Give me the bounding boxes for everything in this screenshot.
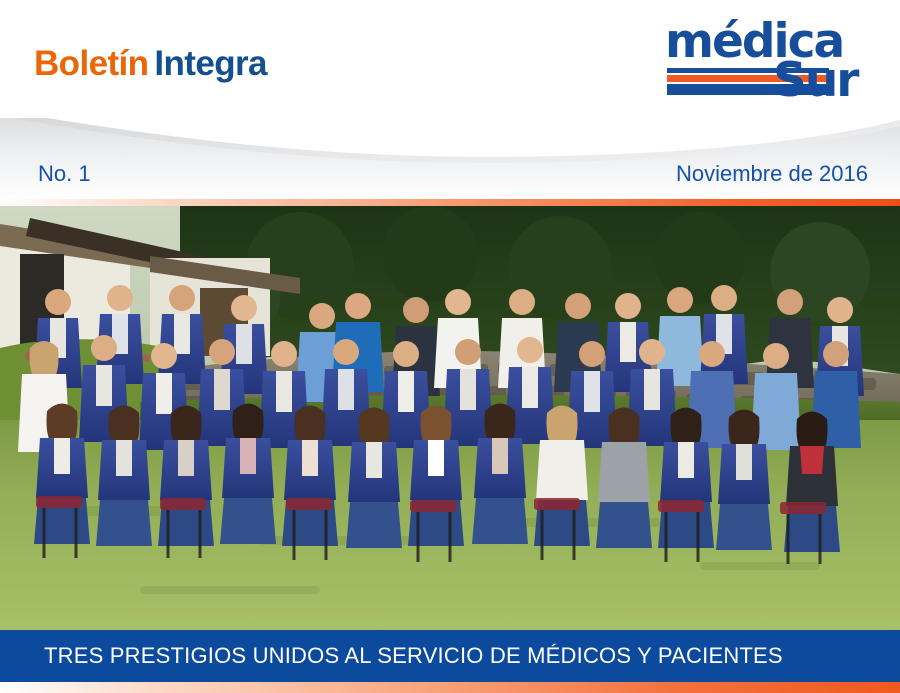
logo-text-sur: Sur	[773, 57, 858, 104]
tagline-text: TRES PRESTIGIOS UNIDOS AL SERVICIO DE MÉ…	[44, 643, 783, 669]
issue-number: No. 1	[38, 161, 91, 187]
cover-photo	[0, 206, 900, 630]
masthead-word-boletin: Boletín	[34, 44, 148, 83]
issue-band-curve	[0, 108, 900, 201]
orange-divider-bottom	[0, 682, 900, 693]
masthead-title: BoletínIntegra	[34, 44, 267, 84]
cover-photo-illustration	[0, 206, 900, 630]
newsletter-page: BoletínIntegra médica Sur	[0, 0, 900, 693]
orange-divider-top	[0, 199, 900, 206]
page-header: BoletínIntegra médica Sur	[0, 0, 900, 118]
tagline-banner: TRES PRESTIGIOS UNIDOS AL SERVICIO DE MÉ…	[0, 630, 900, 682]
medica-sur-logo: médica Sur	[665, 18, 875, 104]
issue-date: Noviembre de 2016	[676, 161, 868, 187]
masthead-word-integra: Integra	[154, 44, 267, 83]
issue-band	[0, 108, 900, 201]
